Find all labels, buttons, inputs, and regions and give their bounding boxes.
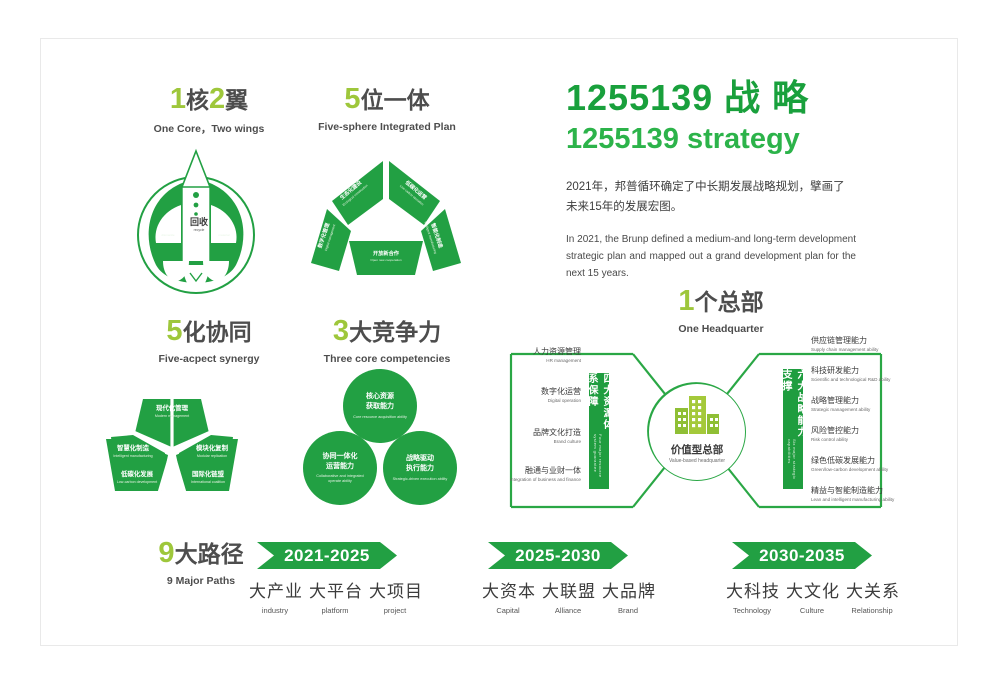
hq-center-en: Value-based headquarter <box>669 458 725 464</box>
three-comp-cn: 大竞争力 <box>349 319 441 345</box>
hq-right-item-4: 绿色低碳发展能力 Green/low-carbon development ab… <box>811 456 888 473</box>
five-sphere-cn: 位一体 <box>361 87 430 113</box>
rocket-right-en: material <box>211 233 237 237</box>
hq-left-bar: 四大资源体系保障 Four major resource system guar… <box>589 373 609 489</box>
synergy-label-0: 现代化管理 Modern management <box>142 405 202 419</box>
synergy-label-3: 低碳化发展 Low-carbon development <box>110 471 164 485</box>
section-title-one-core: 1核2翼 <box>129 85 289 114</box>
rocket-left-en: dismantle <box>155 233 181 237</box>
five-sphere-num: 5 <box>344 83 360 115</box>
hq-right-item-3: 风险管控能力 Risk control ability <box>811 426 859 443</box>
five-sphere-pentagon: 生态化建设 Ecological construction 低碳化运营 Low-… <box>291 139 481 279</box>
section-heading-one-core: 1核2翼 One Core，Two wings <box>129 85 289 136</box>
hero-title-cn: 1255139 战 略 <box>566 79 906 118</box>
roadmap-1-item-1: 大联盟 Alliance <box>542 577 594 615</box>
three-comp-num: 3 <box>333 315 349 347</box>
section-subtitle-one-core: One Core，Two wings <box>129 121 289 136</box>
hero-title-en: 1255139 strategy <box>566 122 906 157</box>
section-subtitle-three-comp: Three core competencies <box>297 353 477 365</box>
roadmap-2-item-1: 大文化 Culture <box>786 577 838 615</box>
section-title-nine-paths: 9大路径 <box>121 539 281 568</box>
hq-center-cn: 价值型总部 <box>671 442 724 457</box>
hq-left-item-2: 品牌文化打造 Brand culture <box>511 428 581 445</box>
hq-left-item-3: 融通与业财一体 Integration of business and fina… <box>501 466 581 483</box>
rocket-center-label: 回收 recycle <box>187 217 211 232</box>
nine-paths-cn: 大路径 <box>175 541 244 567</box>
hq-left-item-0: 人力资源管理 HR management <box>511 347 581 364</box>
one-core-cn-a: 核 <box>186 87 209 113</box>
section-title-five-sphere: 5位一体 <box>287 85 487 114</box>
three-competencies-group: 核心资源 获取能力 Core resource acquisition abil… <box>299 369 459 509</box>
roadmap-0-item-2: 大项目 project <box>369 577 421 615</box>
building-icon <box>667 392 727 440</box>
rocket-center-en: recycle <box>187 228 211 232</box>
section-subtitle-five-sphere: Five-sphere Integrated Plan <box>287 121 487 133</box>
section-heading-three-comp: 3大竞争力 Three core competencies <box>297 317 477 365</box>
roadmap-arrow-1[interactable]: 2025-2030 <box>488 542 628 569</box>
competency-circle-1: 协同一体化 运营能力 Collaborative and integrated … <box>303 431 377 505</box>
recycle-rocket-emblem: 回收 recycle 拆解 dismantle 材料 material <box>111 139 281 304</box>
one-core-cn-b: 翼 <box>225 87 248 113</box>
five-synergy-pentagon: 现代化管理 Modern management 模块化复制 Modular re… <box>97 387 247 507</box>
nine-paths-num: 9 <box>158 537 174 569</box>
section-subtitle-five-synergy: Five-acpect synergy <box>129 353 289 365</box>
rocket-right-label: 材料 material <box>211 227 237 237</box>
hq-right-item-0: 供应链管理能力 Supply chain management ability <box>811 336 878 353</box>
one-core-num-1: 1 <box>170 83 186 115</box>
five-synergy-cn: 化协同 <box>183 319 252 345</box>
hq-left-bar-en: Four major resource system guarantee <box>593 434 603 489</box>
competency-circle-0: 核心资源 获取能力 Core resource acquisition abil… <box>343 369 417 443</box>
roadmap-items-1: 大资本 Capital 大联盟 Alliance 大品牌 Brand <box>482 577 654 615</box>
roadmap-items-2: 大科技 Technology 大文化 Culture 大关系 Relations… <box>726 577 898 615</box>
hero-desc-en: In 2021, the Brunp defined a medium-and … <box>566 231 856 283</box>
hq-diagram: 价值型总部 Value-based headquarter 四大资源体系保障 F… <box>481 311 911 531</box>
hq-right-item-2: 战略管理能力 Strategic management ability <box>811 396 870 413</box>
synergy-label-1: 模块化复制 Modular replication <box>185 445 239 459</box>
hq-center-badge: 价值型总部 Value-based headquarter <box>648 383 746 481</box>
synergy-label-4: 智慧化制造 Intelligent manufacturing <box>106 445 160 459</box>
roadmap-1-item-2: 大品牌 Brand <box>602 577 654 615</box>
five-synergy-num: 5 <box>166 315 182 347</box>
hq-right-bar-cn: 六大战略能力支撑 <box>778 369 808 439</box>
petal-label-4: 开放新合作 Open new cooperation <box>361 251 411 262</box>
roadmap-arrow-2[interactable]: 2030-2035 <box>732 542 872 569</box>
roadmap-0-item-1: 大平台 platform <box>309 577 361 615</box>
roadmap-2-item-0: 大科技 Technology <box>726 577 778 615</box>
roadmap-1-item-0: 大资本 Capital <box>482 577 534 615</box>
section-heading-five-synergy: 5化协同 Five-acpect synergy <box>129 317 289 365</box>
infographic-canvas: 1核2翼 One Core，Two wings <box>40 38 958 646</box>
roadmap-2-item-2: 大关系 Relationship <box>846 577 898 615</box>
section-title-three-comp: 3大竞争力 <box>297 317 477 346</box>
rocket-center-cn: 回收 <box>187 217 211 227</box>
hq-right-item-1: 科技研发能力 Scientific and technological R&D … <box>811 366 890 383</box>
hq-right-item-5: 精益与智能制造能力 Lean and intelligent manufactu… <box>811 486 894 503</box>
hq-right-bar-en: Six major strategic capabilities <box>787 439 797 489</box>
roadmap-items-0: 大产业 industry 大平台 platform 大项目 project <box>249 577 421 615</box>
section-heading-five-sphere: 5位一体 Five-sphere Integrated Plan <box>287 85 487 133</box>
synergy-label-2: 国际化链盟 International coalition <box>181 471 235 485</box>
one-core-num-2: 2 <box>209 83 225 115</box>
rocket-left-label: 拆解 dismantle <box>155 227 181 237</box>
roadmap-0-item-0: 大产业 industry <box>249 577 301 615</box>
hq-right-bar: 六大战略能力支撑 Six major strategic capabilitie… <box>783 369 803 489</box>
competency-circle-2: 战略驱动 执行能力 Strategic-driven execution abi… <box>383 431 457 505</box>
section-title-five-synergy: 5化协同 <box>129 317 289 346</box>
roadmap-arrow-0[interactable]: 2021-2025 <box>257 542 397 569</box>
hero-block: 1255139 战 略 1255139 strategy 2021年，邦普循环确… <box>566 79 906 282</box>
hero-desc-cn: 2021年，邦普循环确定了中长期发展战略规划，擘画了未来15年的发展宏图。 <box>566 177 856 217</box>
hq-left-item-1: 数字化运营 Digital operation <box>511 387 581 404</box>
hq-left-bar-cn: 四大资源体系保障 <box>584 373 614 434</box>
